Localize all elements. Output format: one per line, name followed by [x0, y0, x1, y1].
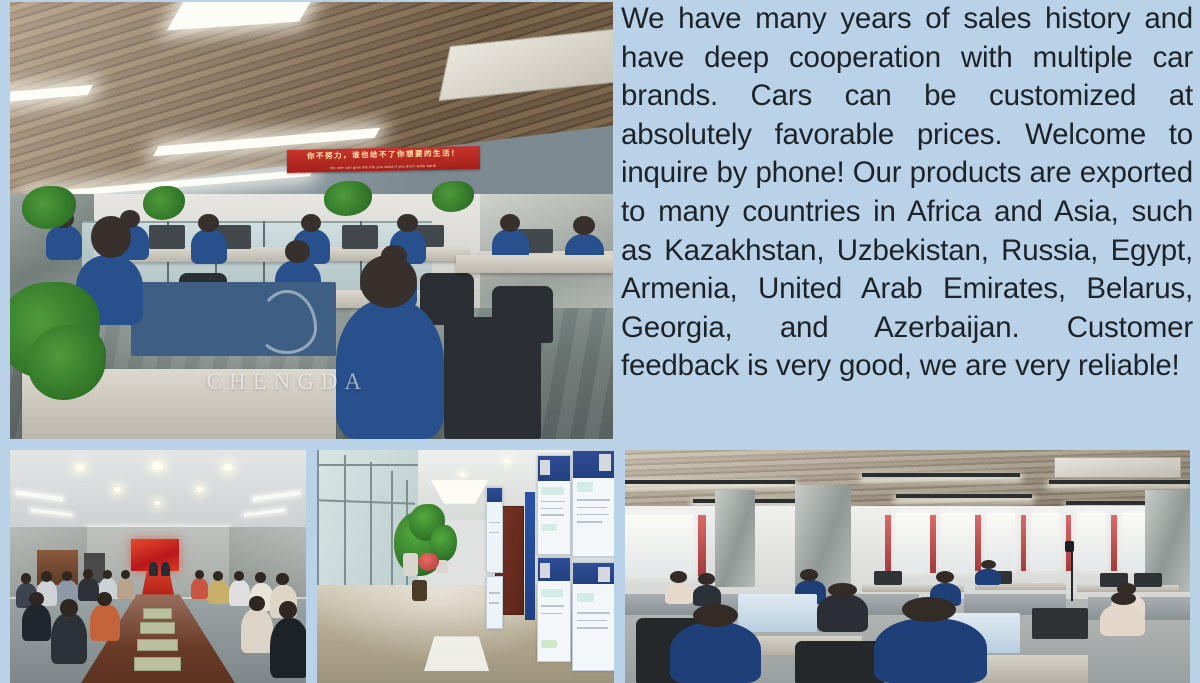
workstations-photo	[625, 450, 1190, 683]
description-text-block: We have many years of sales history and …	[621, 0, 1193, 440]
motivational-banner: 你不努力，谁也给不了你想要的生活！ No one can give the li…	[287, 146, 480, 173]
conference-hall-photo	[10, 450, 306, 683]
top-row: 你不努力，谁也给不了你想要的生活！ No one can give the li…	[0, 0, 1200, 443]
product-description-banner: 你不努力，谁也给不了你想要的生活！ No one can give the li…	[0, 0, 1200, 683]
corridor-photo	[317, 450, 614, 683]
banner-text-cn: 你不努力，谁也给不了你想要的生活！	[297, 147, 471, 162]
bottom-photo-row	[0, 450, 1200, 683]
chengda-watermark: CHENGDA	[207, 369, 368, 395]
description-paragraph: We have many years of sales history and …	[621, 0, 1193, 386]
main-office-photo: 你不努力，谁也给不了你想要的生活！ No one can give the li…	[10, 2, 613, 439]
